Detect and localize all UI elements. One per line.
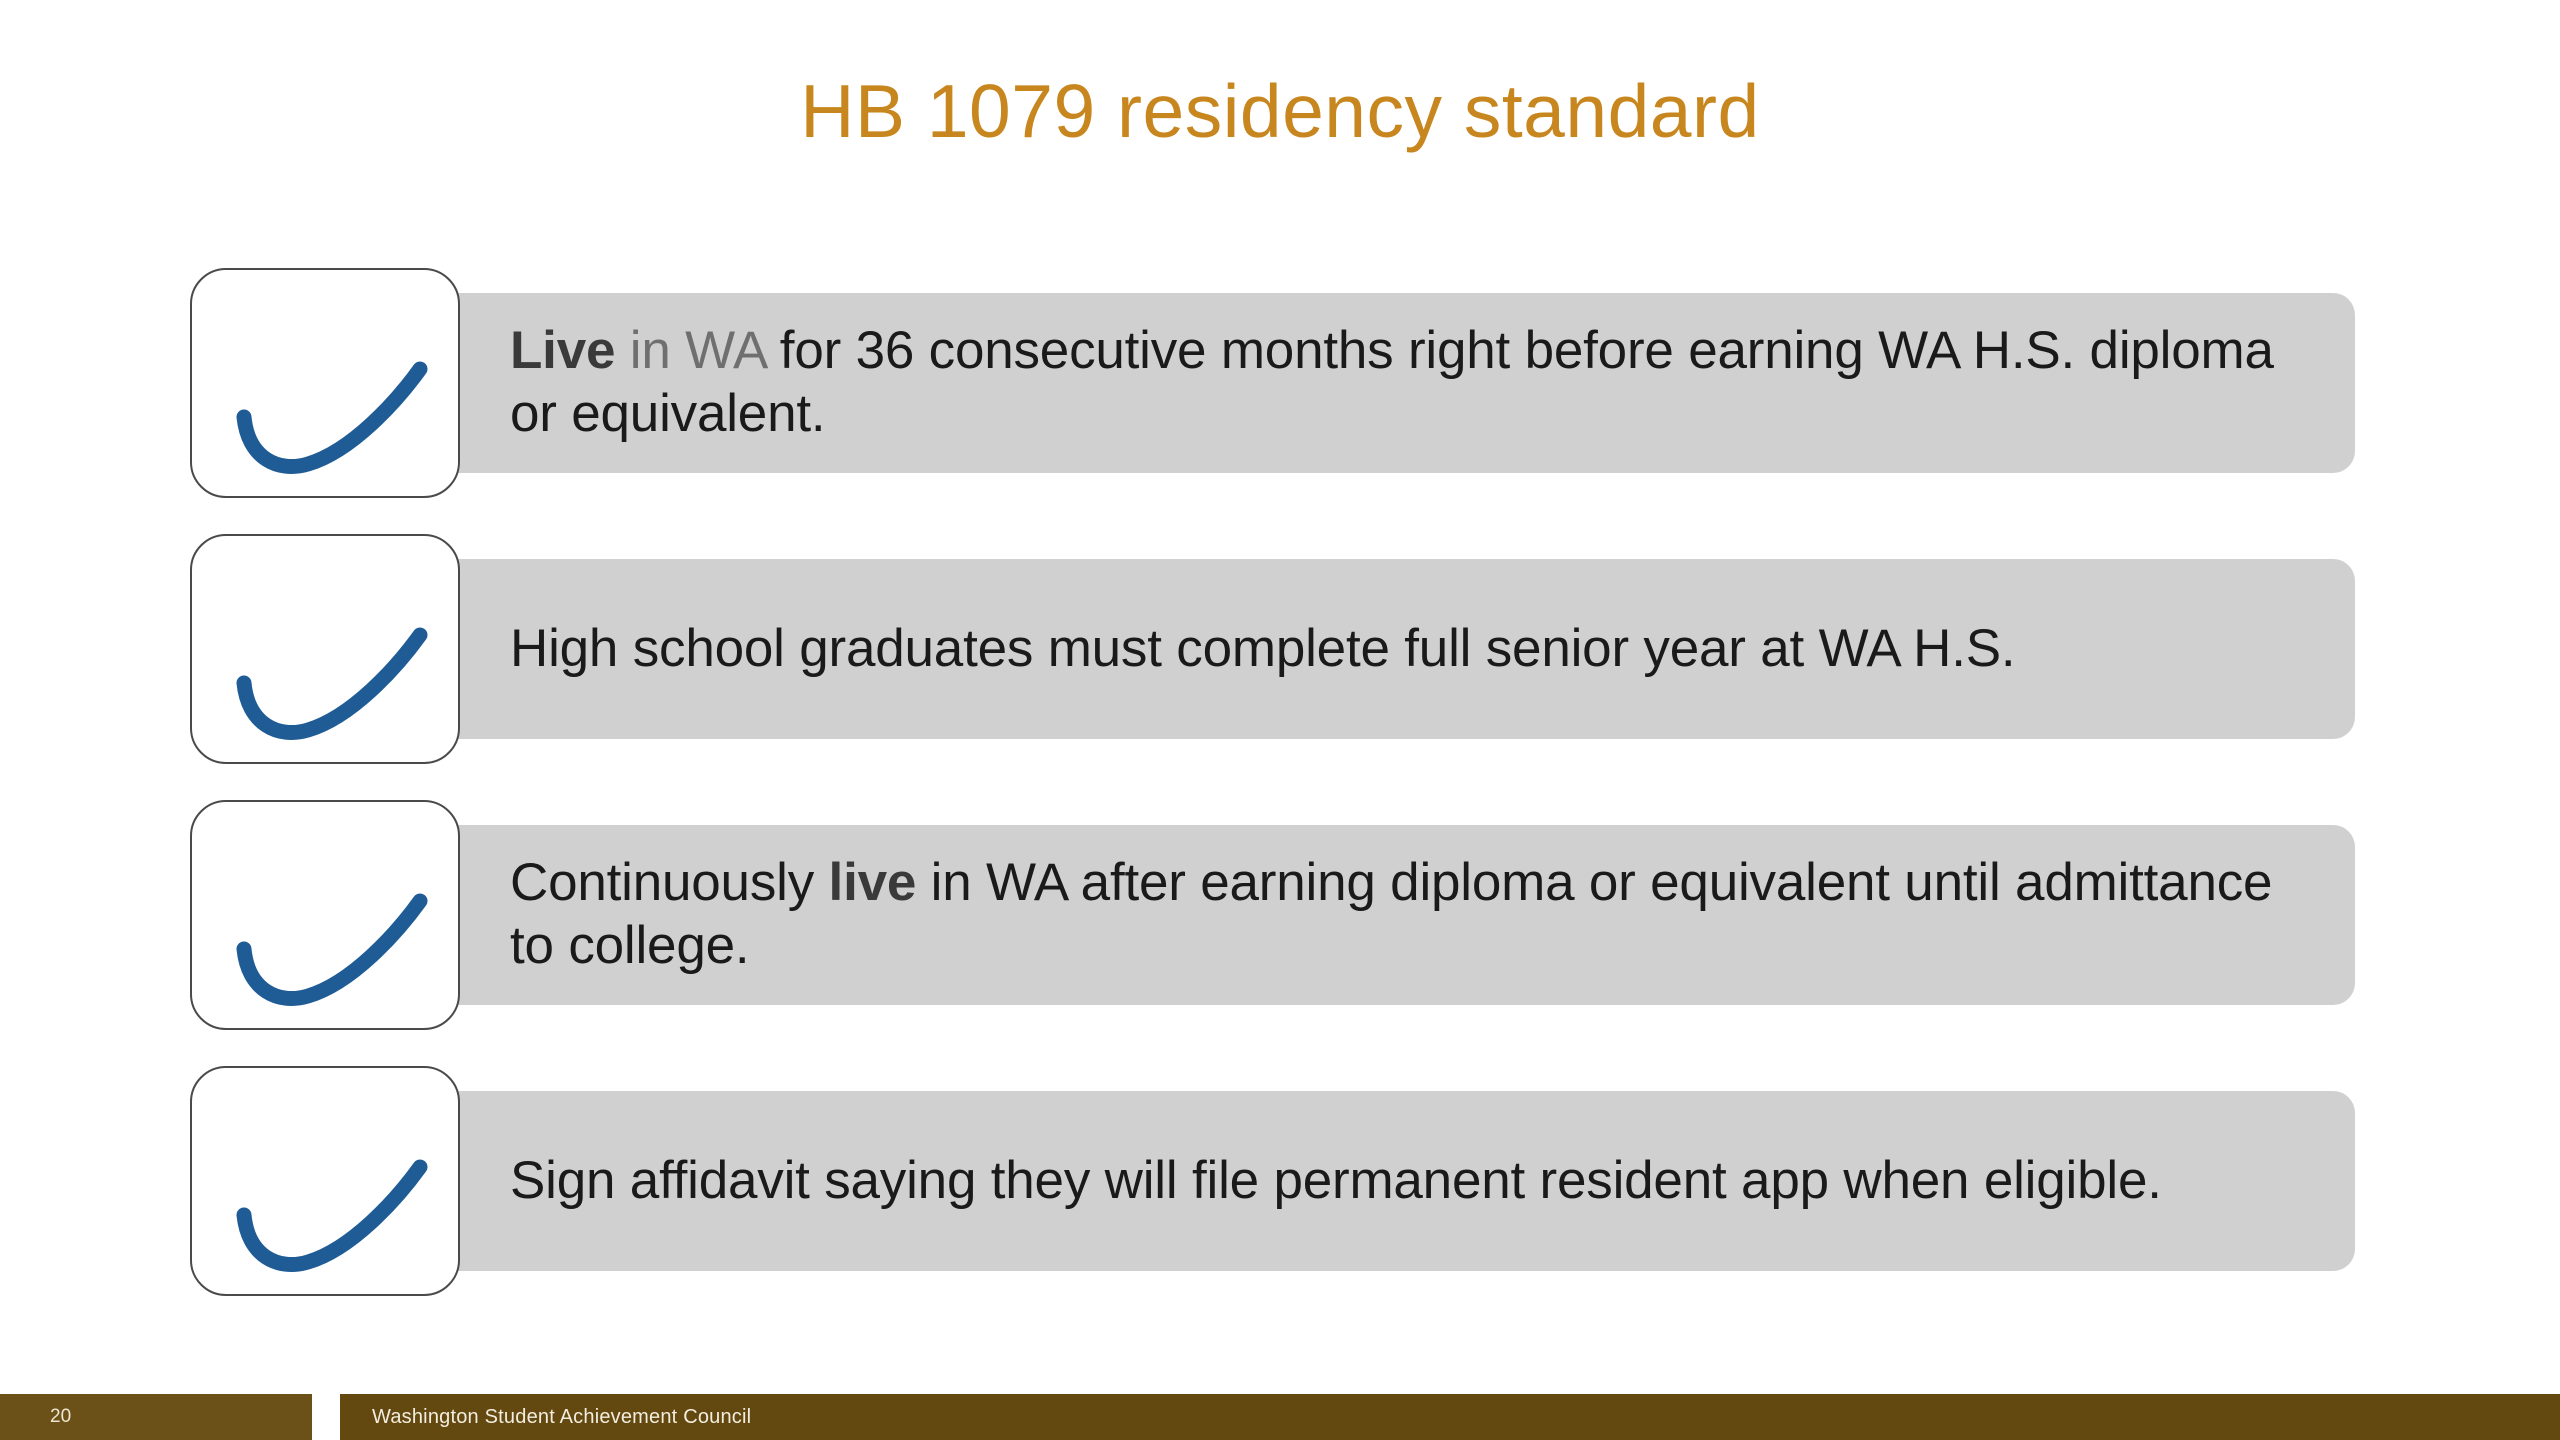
checklist-item-text-lead: Continuously xyxy=(510,853,829,912)
checklist-item-bar: High school graduates must complete full… xyxy=(300,559,2355,739)
checklist-item-bar: Sign affidavit saying they will file per… xyxy=(300,1091,2355,1271)
checklist-item-text: Sign affidavit saying they will file per… xyxy=(300,1150,2222,1213)
slide-canvas: HB 1079 residency standard Live in WA fo… xyxy=(0,0,2560,1440)
checklist-item-text: Live in WA for 36 consecutive months rig… xyxy=(300,320,2355,445)
slide-footer: 20 Washington Student Achievement Counci… xyxy=(0,1394,2560,1440)
checklist-item-bar: Live in WA for 36 consecutive months rig… xyxy=(300,293,2355,473)
checklist-item-text-bold: live xyxy=(829,853,917,912)
blue-check-swoosh-icon xyxy=(192,1068,462,1298)
blue-check-swoosh-icon xyxy=(192,802,462,1032)
checklist-item-text-muted: in WA xyxy=(615,321,765,380)
checklist-item-text: Continuously live in WA after earning di… xyxy=(300,852,2355,977)
checkmark-box xyxy=(190,268,460,498)
blue-check-swoosh-icon xyxy=(192,270,462,500)
checklist-item: Live in WA for 36 consecutive months rig… xyxy=(0,268,2560,498)
checkmark-box xyxy=(190,1066,460,1296)
blue-check-swoosh-icon xyxy=(192,536,462,766)
checklist: Live in WA for 36 consecutive months rig… xyxy=(0,268,2560,1296)
checklist-item: High school graduates must complete full… xyxy=(0,534,2560,764)
checklist-item-bar: Continuously live in WA after earning di… xyxy=(300,825,2355,1005)
slide-number: 20 xyxy=(0,1406,71,1428)
checklist-item-text-bold: Live xyxy=(510,321,615,380)
checklist-item: Continuously live in WA after earning di… xyxy=(0,800,2560,1030)
organization-bar: Washington Student Achievement Council xyxy=(340,1394,2560,1440)
checklist-item: Sign affidavit saying they will file per… xyxy=(0,1066,2560,1296)
page-title: HB 1079 residency standard xyxy=(0,68,2560,154)
checkmark-box xyxy=(190,800,460,1030)
slide-number-bar: 20 xyxy=(0,1394,312,1440)
checklist-item-text-rest: for 36 consecutive months right before e… xyxy=(510,321,2274,443)
checkmark-box xyxy=(190,534,460,764)
checklist-item-text: High school graduates must complete full… xyxy=(300,618,2075,681)
organization-name: Washington Student Achievement Council xyxy=(340,1406,751,1429)
